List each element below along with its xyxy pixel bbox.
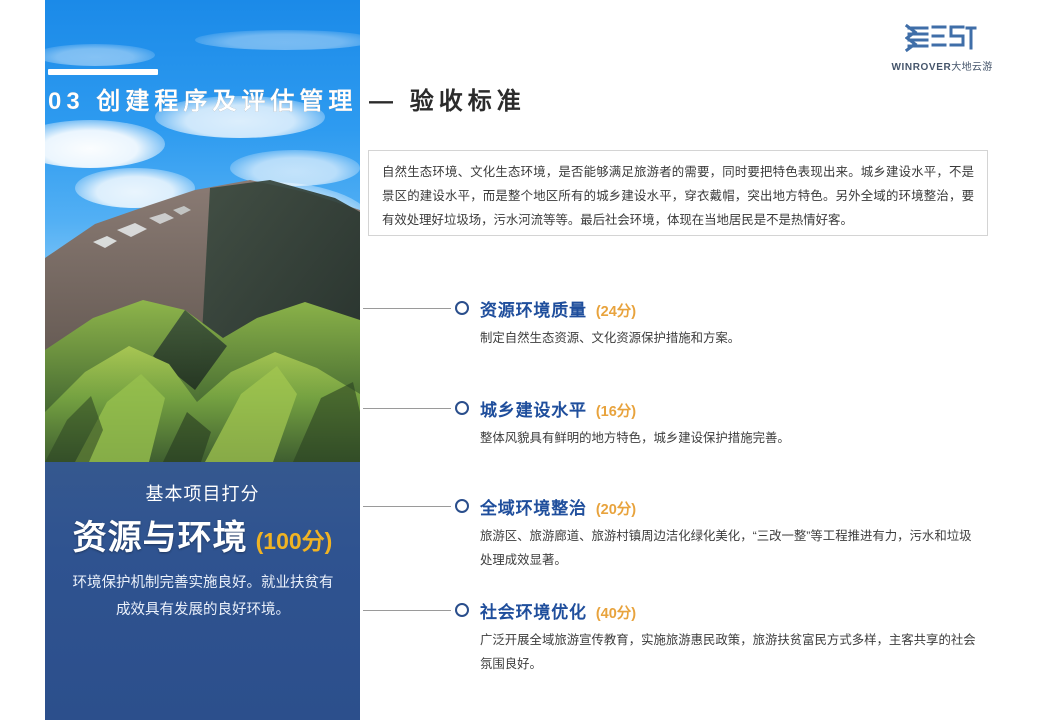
- score-info-panel: 基本项目打分 资源与环境(100分) 环境保护机制完善实施良好。就业扶贫有成效具…: [45, 462, 360, 720]
- panel-kicker: 基本项目打分: [45, 480, 360, 506]
- connector-line: [363, 308, 451, 309]
- logo: WINROVER大地云游: [882, 22, 1002, 73]
- logo-brand-cn: 大地云游: [951, 62, 992, 73]
- connector-line: [363, 506, 451, 507]
- cloud-shape: [45, 44, 155, 66]
- connector-line: [363, 408, 451, 409]
- intro-text: 自然生态环境、文化生态环境，是否能够满足旅游者的需要，同时要把特色表现出来。城乡…: [382, 160, 974, 232]
- bullet-circle-icon: [455, 301, 469, 315]
- logo-brand-en: WINROVER: [891, 62, 951, 73]
- connector-line: [363, 610, 451, 611]
- panel-score-value: (100分): [256, 528, 333, 554]
- panel-description: 环境保护机制完善实施良好。就业扶贫有成效具有发展的良好环境。: [67, 570, 339, 624]
- cloud-shape: [195, 30, 360, 50]
- page-title-overlay: 03 创建程序及评估管理 — 验收标准: [48, 85, 360, 119]
- winrover-logo-mark-icon: [882, 22, 1002, 56]
- item-description: 制定自然生态资源、文化资源保护措施和方案。: [480, 326, 935, 350]
- panel-score-title: 资源与环境: [73, 519, 248, 557]
- item-score: (20分): [596, 502, 636, 518]
- logo-glyph-icon: [905, 22, 979, 56]
- mountain-layer: [45, 150, 360, 462]
- item-score: (16分): [596, 404, 636, 420]
- item-heading: 社会环境优化(40分): [480, 598, 636, 623]
- mountain-silhouette-svg: [45, 150, 360, 462]
- item-score: (24分): [596, 304, 636, 320]
- header-accent-rule: [48, 69, 158, 75]
- logo-text: WINROVER大地云游: [882, 58, 1002, 73]
- item-title: 全域环境整治: [480, 499, 587, 518]
- bullet-circle-icon: [455, 603, 469, 617]
- item-title: 资源环境质量: [480, 301, 587, 320]
- item-heading: 城乡建设水平(16分): [480, 396, 636, 421]
- item-description: 广泛开展全域旅游宣传教育，实施旅游惠民政策，旅游扶贫富民方式多样，主客共享的社会…: [480, 628, 980, 676]
- item-title: 城乡建设水平: [480, 401, 587, 420]
- bullet-circle-icon: [455, 499, 469, 513]
- item-title: 社会环境优化: [480, 603, 587, 622]
- item-description: 整体风貌具有鲜明的地方特色，城乡建设保护措施完善。: [480, 426, 935, 450]
- item-heading: 全域环境整治(20分): [480, 494, 636, 519]
- item-description: 旅游区、旅游廊道、旅游村镇周边洁化绿化美化，“三改一整”等工程推进有力，污水和垃…: [480, 524, 980, 572]
- item-score: (40分): [596, 606, 636, 622]
- intro-textbox: 自然生态环境、文化生态环境，是否能够满足旅游者的需要，同时要把特色表现出来。城乡…: [368, 150, 988, 236]
- panel-score-row: 资源与环境(100分): [45, 510, 360, 559]
- item-heading: 资源环境质量(24分): [480, 296, 636, 321]
- bullet-circle-icon: [455, 401, 469, 415]
